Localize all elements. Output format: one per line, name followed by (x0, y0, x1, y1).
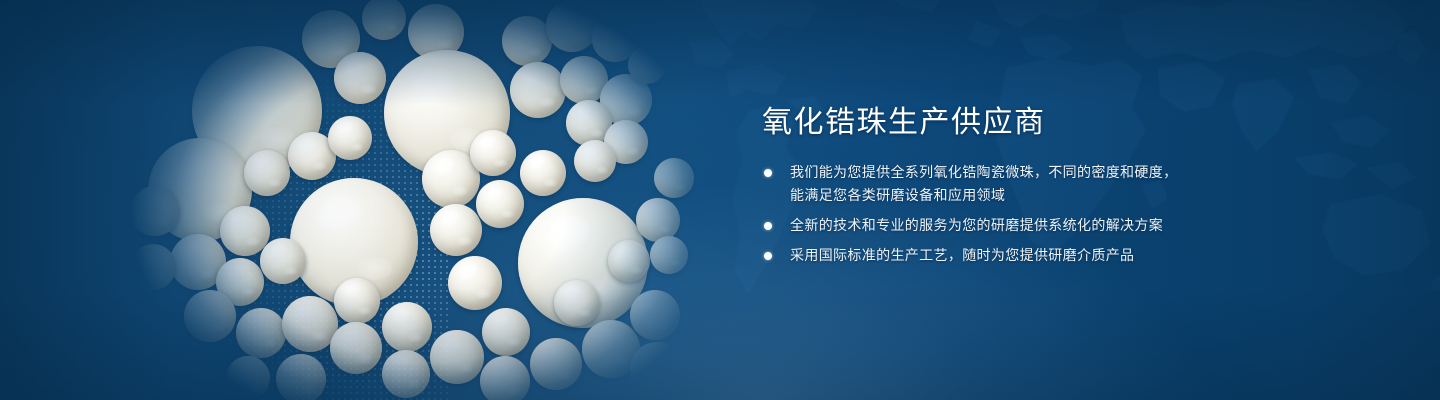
hero-banner: 氧化锆珠生产供应商 我们能为您提供全系列氧化锆陶瓷微珠，不同的密度和硬度， 能满… (0, 0, 1440, 400)
list-item-line: 能满足您各类研磨设备和应用领域 (790, 185, 1282, 206)
list-item: 全新的技术和专业的服务为您的研磨提供系统化的解决方案 (762, 215, 1282, 236)
page-title: 氧化锆珠生产供应商 (762, 104, 1282, 142)
list-item-line: 全新的技术和专业的服务为您的研磨提供系统化的解决方案 (790, 215, 1282, 236)
list-item: 我们能为您提供全系列氧化锆陶瓷微珠，不同的密度和硬度， 能满足您各类研磨设备和应… (762, 162, 1282, 206)
bullet-dot-icon (764, 222, 772, 230)
banner-content: 氧化锆珠生产供应商 我们能为您提供全系列氧化锆陶瓷微珠，不同的密度和硬度， 能满… (762, 104, 1282, 266)
list-item-line: 我们能为您提供全系列氧化锆陶瓷微珠，不同的密度和硬度， (790, 162, 1282, 183)
list-item: 采用国际标准的生产工艺，随时为您提供研磨介质产品 (762, 245, 1282, 266)
bullet-dot-icon (764, 169, 772, 177)
bullet-dot-icon (764, 252, 772, 260)
list-item-line: 采用国际标准的生产工艺，随时为您提供研磨介质产品 (790, 245, 1282, 266)
feature-list: 我们能为您提供全系列氧化锆陶瓷微珠，不同的密度和硬度， 能满足您各类研磨设备和应… (762, 162, 1282, 266)
